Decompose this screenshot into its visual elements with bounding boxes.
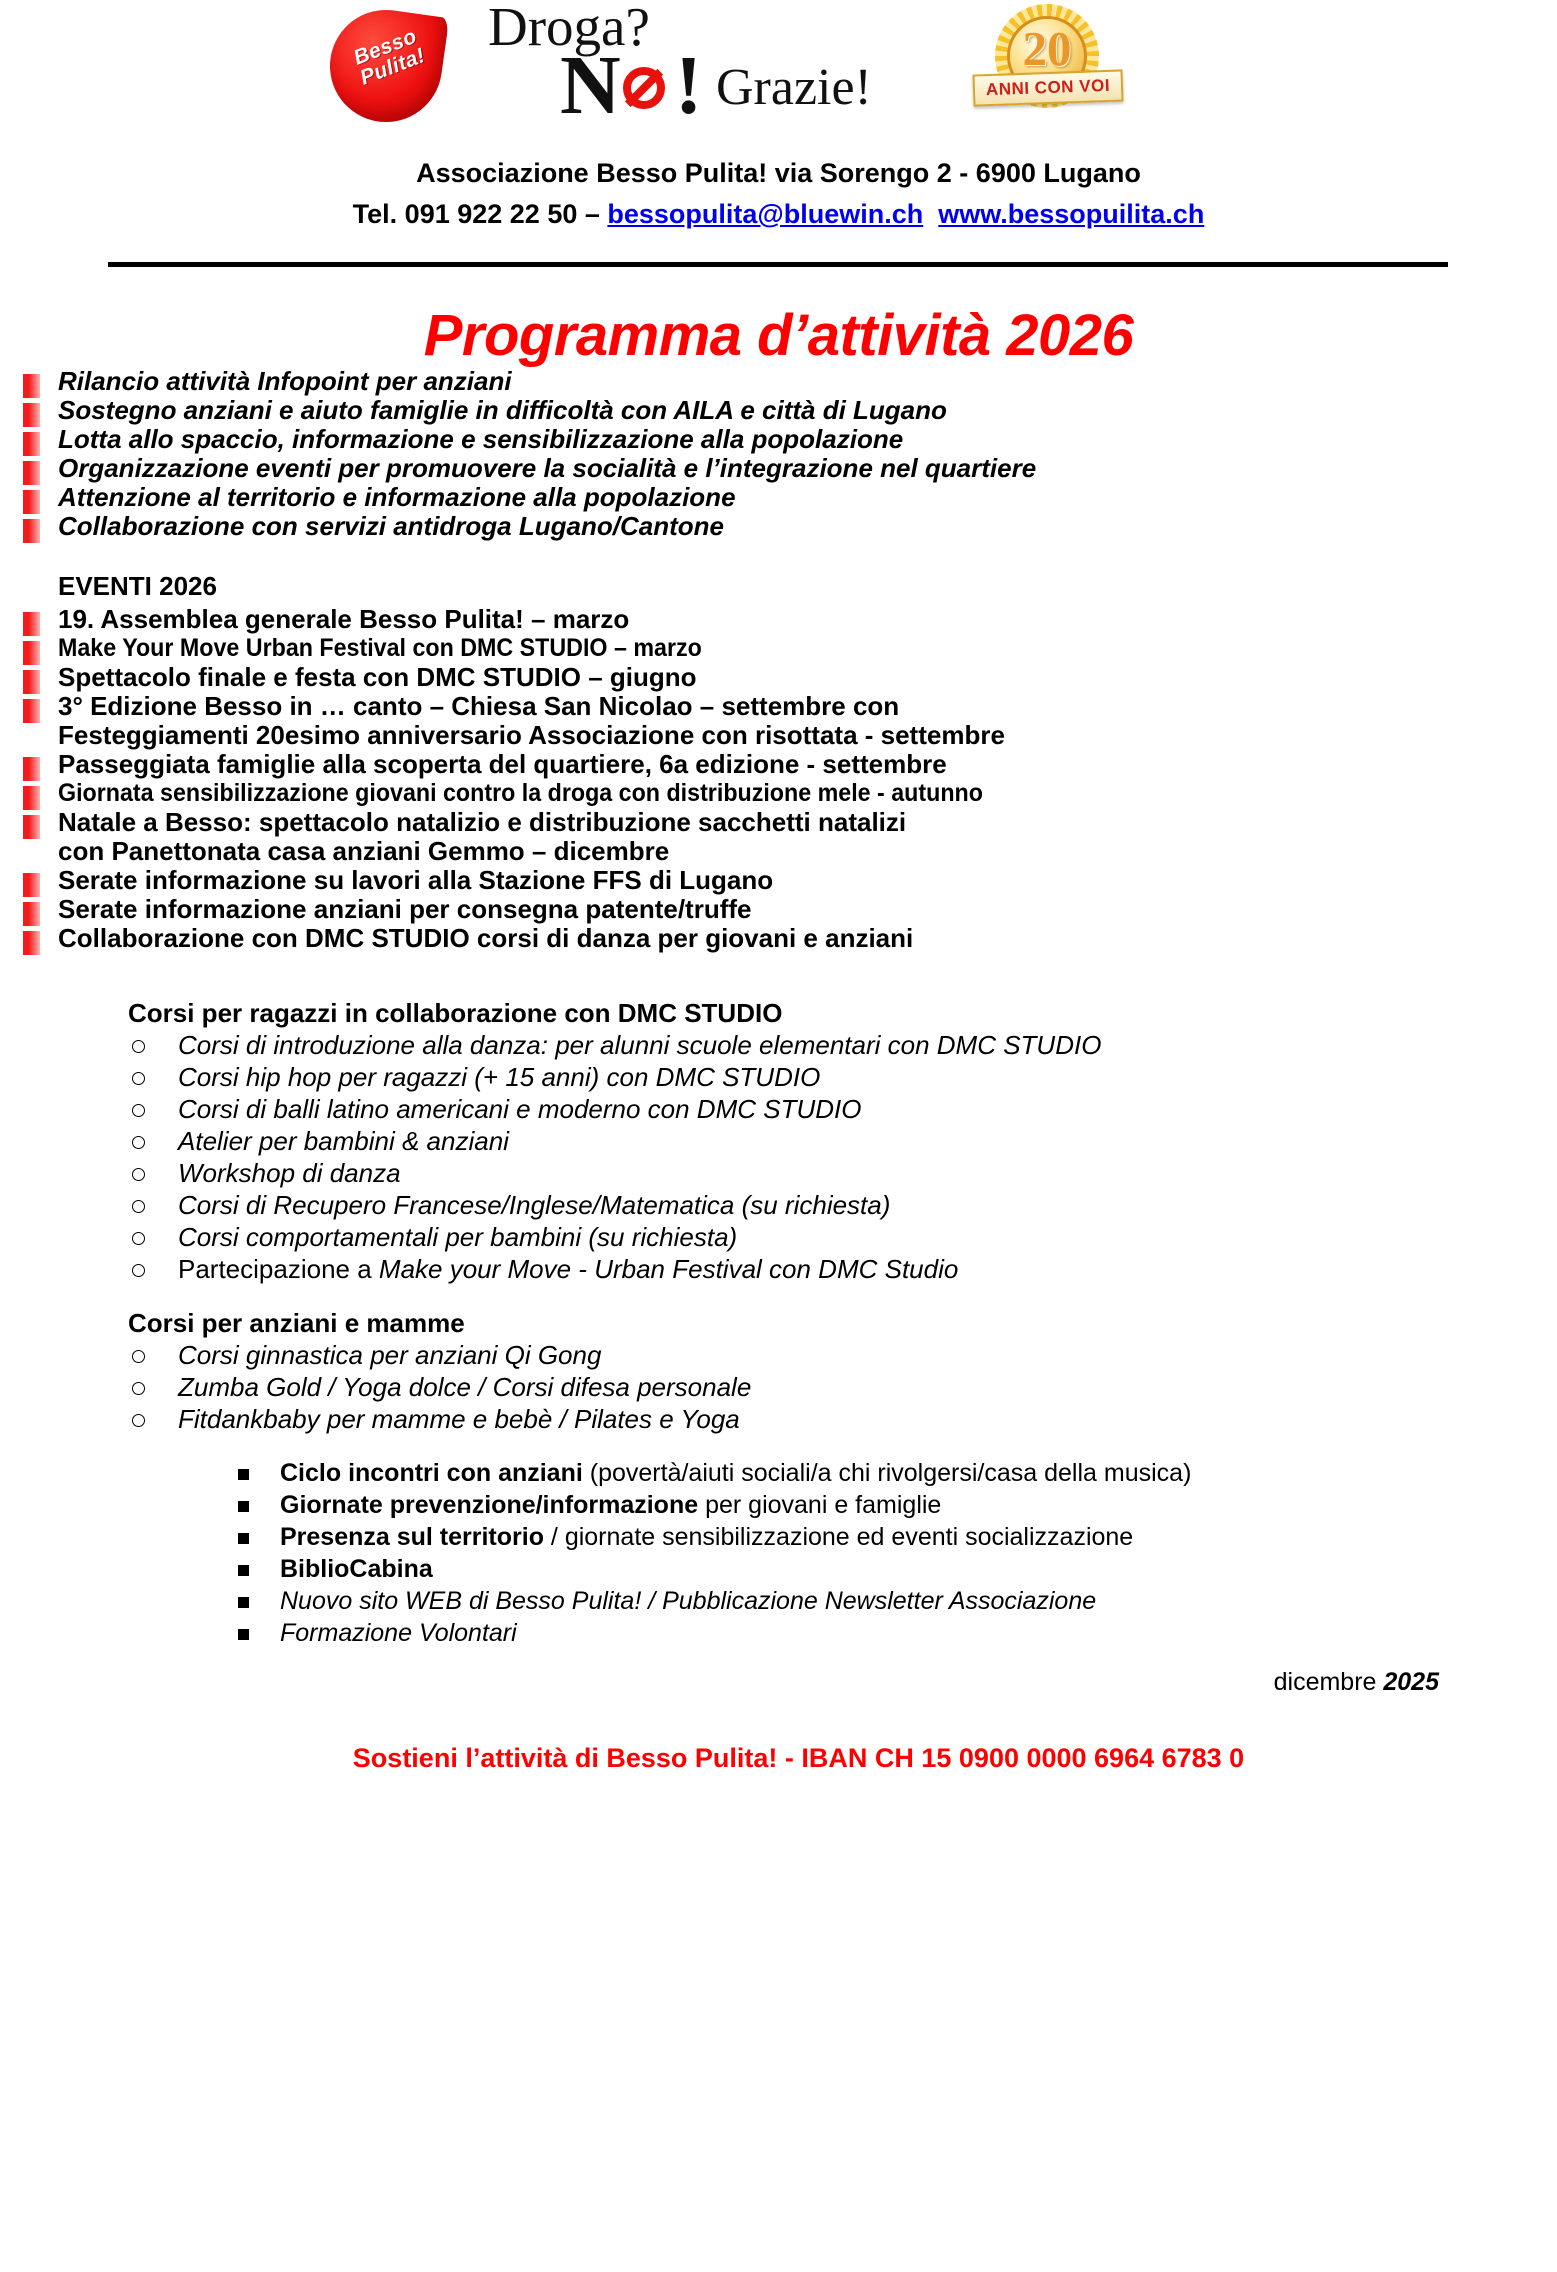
list-item-continuation: Festeggiamenti 20esimo anniversario Asso… [0,721,1557,750]
no-entry-icon [621,63,675,119]
circle-bullet-icon [132,1040,145,1053]
red-square-bullet-icon [23,519,40,543]
list-item-label: Corsi hip hop per ragazzi (+ 15 anni) co… [178,1061,1557,1093]
list-item-label: Festeggiamenti 20esimo anniversario Asso… [58,721,1557,750]
square-bullet-icon [238,1501,249,1512]
red-square-bullet-icon [23,641,40,665]
list-item-label-bold: BiblioCabina [280,1555,433,1583]
circle-bullet-icon [132,1072,145,1085]
list-item: Corsi hip hop per ragazzi (+ 15 anni) co… [0,1061,1557,1093]
list-item-label: Sostegno anziani e aiuto famiglie in dif… [58,396,1557,425]
list-item: Serate informazione anziani per consegna… [0,895,1557,924]
list-item-label: Make Your Move Urban Festival con DMC ST… [58,634,1452,663]
seniors-courses-heading: Corsi per anziani e mamme [0,1307,1557,1339]
red-square-bullet-icon [23,490,40,514]
website-link[interactable]: www.bessopuilita.ch [938,199,1204,229]
seniors-courses-list: Corsi ginnastica per anziani Qi Gong Zum… [0,1339,1557,1435]
list-item: BiblioCabina [0,1553,1557,1585]
list-item: 3° Edizione Besso in … canto – Chiesa Sa… [0,692,1557,721]
youth-courses-heading: Corsi per ragazzi in collaborazione con … [0,997,1557,1029]
list-item-label: Workshop di danza [178,1157,1557,1189]
email-link[interactable]: bessopulita@bluewin.ch [607,199,923,229]
list-item-label: Serate informazione anziani per consegna… [58,895,1557,924]
square-bullet-icon [238,1469,249,1480]
list-item: Attenzione al territorio e informazione … [0,483,1557,512]
list-item-label: Formazione Volontari [280,1617,1557,1649]
list-item: Lotta allo spaccio, informazione e sensi… [0,425,1557,454]
list-item: Nuovo sito WEB di Besso Pulita! / Pubbli… [0,1585,1557,1617]
list-item: Partecipazione a Make your Move - Urban … [0,1253,1557,1285]
list-item-label: Presenza sul territorio / giornate sensi… [280,1521,1557,1553]
list-item-label: Rilancio attività Infopoint per anziani [58,367,1557,396]
circle-bullet-icon [132,1200,145,1213]
circle-bullet-icon [132,1264,145,1277]
list-item-label: Corsi ginnastica per anziani Qi Gong [178,1339,1557,1371]
circle-bullet-icon [132,1350,145,1363]
red-square-bullet-icon [23,786,40,810]
list-item-label-rest: / giornate sensibilizzazione ed eventi s… [544,1523,1133,1551]
list-item-label: Collaborazione con servizi antidroga Lug… [58,512,1557,541]
list-item-label: Nuovo sito WEB di Besso Pulita! / Pubbli… [280,1585,1557,1617]
red-square-bullet-icon [23,699,40,723]
list-item-label: Giornate prevenzione/informazione per gi… [280,1489,1557,1521]
events-heading: EVENTI 2026 [0,571,1557,601]
list-item: Collaborazione con servizi antidroga Lug… [0,512,1557,541]
list-item: Fitdankbaby per mamme e bebè / Pilates e… [0,1403,1557,1435]
list-item: Corsi di introduzione alla danza: per al… [0,1029,1557,1061]
list-item: Corsi ginnastica per anziani Qi Gong [0,1339,1557,1371]
red-square-bullet-icon [23,461,40,485]
circle-bullet-icon [132,1136,145,1149]
list-item: Zumba Gold / Yoga dolce / Corsi difesa p… [0,1371,1557,1403]
list-item-label-rest: per giovani e famiglie [698,1491,941,1519]
youth-courses-list: Corsi di introduzione alla danza: per al… [0,1029,1557,1285]
list-item: Giornata sensibilizzazione giovani contr… [0,779,1557,808]
circle-bullet-icon [132,1104,145,1117]
list-item-label: Corsi di introduzione alla danza: per al… [178,1029,1557,1061]
list-item-continuation: con Panettonata casa anziani Gemmo – dic… [0,837,1557,866]
red-square-bullet-icon [23,374,40,398]
list-item-label-italic: Make your Move - Urban Festival con DMC … [379,1254,958,1284]
list-item-label: Corsi comportamentali per bambini (su ri… [178,1221,1557,1253]
list-item: Organizzazione eventi per promuovere la … [0,454,1557,483]
events-list: 19. Assemblea generale Besso Pulita! – m… [0,605,1557,953]
page-title: Programma d’attività 2026 [0,305,1557,367]
square-bullet-icon [238,1597,249,1608]
list-item-label: Zumba Gold / Yoga dolce / Corsi difesa p… [178,1371,1557,1403]
red-square-bullet-icon [23,902,40,926]
list-item-label: Giornata sensibilizzazione giovani contr… [58,779,1452,808]
list-item: Corsi di balli latino americani e modern… [0,1093,1557,1125]
list-item-label: Spettacolo finale e festa con DMC STUDIO… [58,663,1557,692]
list-item: Spettacolo finale e festa con DMC STUDIO… [0,663,1557,692]
list-item-label: 3° Edizione Besso in … canto – Chiesa Sa… [58,692,1557,721]
list-item: 19. Assemblea generale Besso Pulita! – m… [0,605,1557,634]
red-square-bullet-icon [23,757,40,781]
list-item-label: Organizzazione eventi per promuovere la … [58,454,1557,483]
besso-pulita-drop-logo: Besso Pulita! [330,6,450,126]
red-square-bullet-icon [23,815,40,839]
telephone-text: Tel. 091 922 22 50 – [353,199,608,229]
red-square-bullet-icon [23,931,40,955]
address-line: Associazione Besso Pulita! via Sorengo 2… [0,156,1557,191]
list-item: Collaborazione con DMC STUDIO corsi di d… [0,924,1557,953]
red-square-bullet-icon [23,670,40,694]
list-item-label: Fitdankbaby per mamme e bebè / Pilates e… [178,1403,1557,1435]
list-item-label: Natale a Besso: spettacolo natalizio e d… [58,808,1557,837]
list-item-label: Partecipazione a Make your Move - Urban … [178,1253,1557,1285]
list-item-label: Passeggiata famiglie alla scoperta del q… [58,750,1557,779]
square-bullet-icon [238,1629,249,1640]
list-item: Presenza sul territorio / giornate sensi… [0,1521,1557,1553]
list-item-label: 19. Assemblea generale Besso Pulita! – m… [58,605,1557,634]
anniversary-badge: 20 ANNI CON VOI [965,4,1140,119]
list-item-label: Attenzione al territorio e informazione … [58,483,1557,512]
red-square-bullet-icon [23,403,40,427]
date-year: 2025 [1383,1668,1439,1696]
document-page: Besso Pulita! Droga? N! Grazie! 20 ANNI … [0,0,1557,2272]
list-item: Sostegno anziani e aiuto famiglie in dif… [0,396,1557,425]
list-item-label: BiblioCabina [280,1553,1557,1585]
circle-bullet-icon [132,1232,145,1245]
circle-bullet-icon [132,1382,145,1395]
droga-no-grazie-wordmark: Droga? N! Grazie! [470,0,890,130]
red-square-bullet-icon [23,612,40,636]
list-item-label: Collaborazione con DMC STUDIO corsi di d… [58,924,1557,953]
document-date: dicembre 2025 [0,1665,1557,1699]
list-item: Natale a Besso: spettacolo natalizio e d… [0,808,1557,837]
wordmark-no: N! [560,44,703,128]
square-bullet-icon [238,1565,249,1576]
list-item: Corsi comportamentali per bambini (su ri… [0,1221,1557,1253]
red-square-bullet-icon [23,432,40,456]
list-item-label: Corsi di Recupero Francese/Inglese/Matem… [178,1189,1557,1221]
masthead: Besso Pulita! Droga? N! Grazie! 20 ANNI … [0,0,1557,150]
red-square-bullet-icon [23,873,40,897]
list-item-label-plain: Partecipazione a [178,1254,379,1284]
list-item: Passeggiata famiglie alla scoperta del q… [0,750,1557,779]
list-item-label: con Panettonata casa anziani Gemmo – dic… [58,837,1557,866]
list-item-label: Corsi di balli latino americani e modern… [178,1093,1557,1125]
list-item-label: Lotta allo spaccio, informazione e sensi… [58,425,1557,454]
list-item-label-bold: Presenza sul territorio [280,1523,544,1551]
wordmark-exclamation: ! [675,39,703,132]
date-month: dicembre [1274,1668,1384,1696]
activities-list: Rilancio attività Infopoint per anziani … [0,367,1557,541]
wordmark-letter-n: N [560,39,621,132]
circle-bullet-icon [132,1414,145,1427]
list-item: Ciclo incontri con anziani (povertà/aiut… [0,1457,1557,1489]
list-item: Make Your Move Urban Festival con DMC ST… [0,634,1557,663]
extras-list: Ciclo incontri con anziani (povertà/aiut… [0,1457,1557,1649]
list-item-label-bold: Giornate prevenzione/informazione [280,1491,698,1519]
list-item: Corsi di Recupero Francese/Inglese/Matem… [0,1189,1557,1221]
square-bullet-icon [238,1533,249,1544]
list-item: Formazione Volontari [0,1617,1557,1649]
list-item: Rilancio attività Infopoint per anziani [0,367,1557,396]
badge-number: 20 [1007,22,1087,76]
wordmark-grazie: Grazie! [716,62,872,114]
list-item-label-bold: Ciclo incontri con anziani [280,1459,583,1487]
horizontal-rule [108,262,1448,267]
list-item-label: Ciclo incontri con anziani (povertà/aiut… [280,1457,1557,1489]
contact-line: Tel. 091 922 22 50 – bessopulita@bluewin… [0,197,1557,232]
list-item-label: Atelier per bambini & anziani [178,1125,1557,1157]
list-item-label-rest: (povertà/aiuti sociali/a chi rivolgersi/… [583,1459,1192,1487]
list-item: Giornate prevenzione/informazione per gi… [0,1489,1557,1521]
list-item: Serate informazione su lavori alla Stazi… [0,866,1557,895]
list-item: Atelier per bambini & anziani [0,1125,1557,1157]
list-item: Workshop di danza [0,1157,1557,1189]
iban-support-line: Sostieni l’attività di Besso Pulita! - I… [0,1741,1557,1775]
circle-bullet-icon [132,1168,145,1181]
list-item-label: Serate informazione su lavori alla Stazi… [58,866,1557,895]
